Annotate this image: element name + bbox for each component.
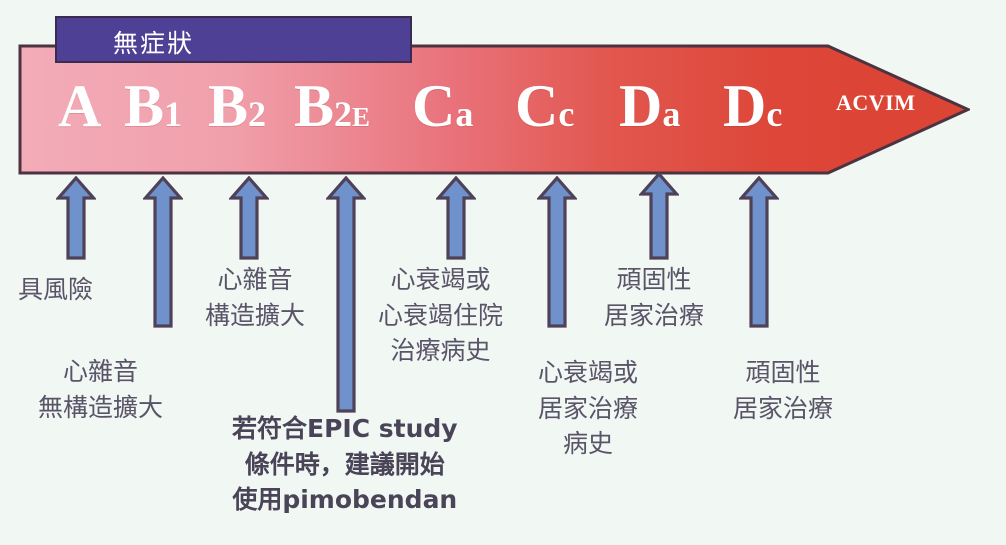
caption-stage-b2e-line-1: 若符合EPIC study: [232, 411, 458, 447]
caption-stage-dc-line-1: 頑固性: [733, 355, 833, 391]
caption-stage-cc-line-2: 居家治療: [538, 391, 638, 427]
arrow-up-stage-b2e: [326, 176, 366, 413]
arrow-up-stage-da: [639, 172, 679, 260]
caption-stage-cc-line-1: 心衰竭或: [538, 355, 638, 391]
caption-stage-cc: 心衰竭或 居家治療 病史: [538, 355, 638, 462]
arrow-up-stage-cc: [537, 176, 577, 328]
caption-stage-a: 具風險: [18, 272, 93, 308]
staging-banner: [18, 44, 970, 175]
caption-stage-b1: 心雜音 無構造擴大: [38, 354, 163, 425]
caption-stage-dc-line-2: 居家治療: [733, 391, 833, 427]
caption-stage-da-line-1: 頑固性: [604, 262, 704, 298]
caption-stage-da: 頑固性 居家治療: [604, 262, 704, 333]
caption-stage-b2: 心雜音 構造擴大: [205, 262, 305, 333]
arrow-up-stage-b2: [229, 176, 269, 260]
asymptomatic-box: 無症狀: [55, 16, 412, 63]
caption-stage-b2e: 若符合EPIC study 條件時，建議開始 使用pimobendan: [232, 411, 458, 518]
caption-stage-ca-line-3: 治療病史: [378, 333, 503, 369]
caption-stage-a-line-1: 具風險: [18, 272, 93, 308]
diagram-canvas: A B1 B2 B2E Ca Cc Da Dc ACVIM 無症狀: [0, 0, 1006, 545]
caption-stage-cc-line-3: 病史: [538, 426, 638, 462]
caption-stage-b2-line-2: 構造擴大: [205, 298, 305, 334]
caption-stage-da-line-2: 居家治療: [604, 298, 704, 334]
caption-stage-ca: 心衰竭或 心衰竭住院 治療病史: [378, 262, 503, 369]
caption-stage-b2e-line-3: 使用pimobendan: [232, 482, 458, 518]
caption-stage-dc: 頑固性 居家治療: [733, 355, 833, 426]
caption-stage-b2e-line-2: 條件時，建議開始: [232, 447, 458, 483]
caption-stage-ca-line-1: 心衰竭或: [378, 262, 503, 298]
caption-stage-b1-line-2: 無構造擴大: [38, 390, 163, 426]
caption-stage-b1-line-1: 心雜音: [38, 354, 163, 390]
arrow-up-stage-a: [56, 176, 96, 260]
arrow-up-stage-dc: [739, 176, 779, 328]
caption-stage-b2-line-1: 心雜音: [205, 262, 305, 298]
arrow-up-stage-b1: [143, 176, 183, 328]
asymptomatic-label: 無症狀: [113, 24, 194, 60]
arrow-up-stage-ca: [436, 176, 476, 260]
caption-stage-ca-line-2: 心衰竭住院: [378, 298, 503, 334]
